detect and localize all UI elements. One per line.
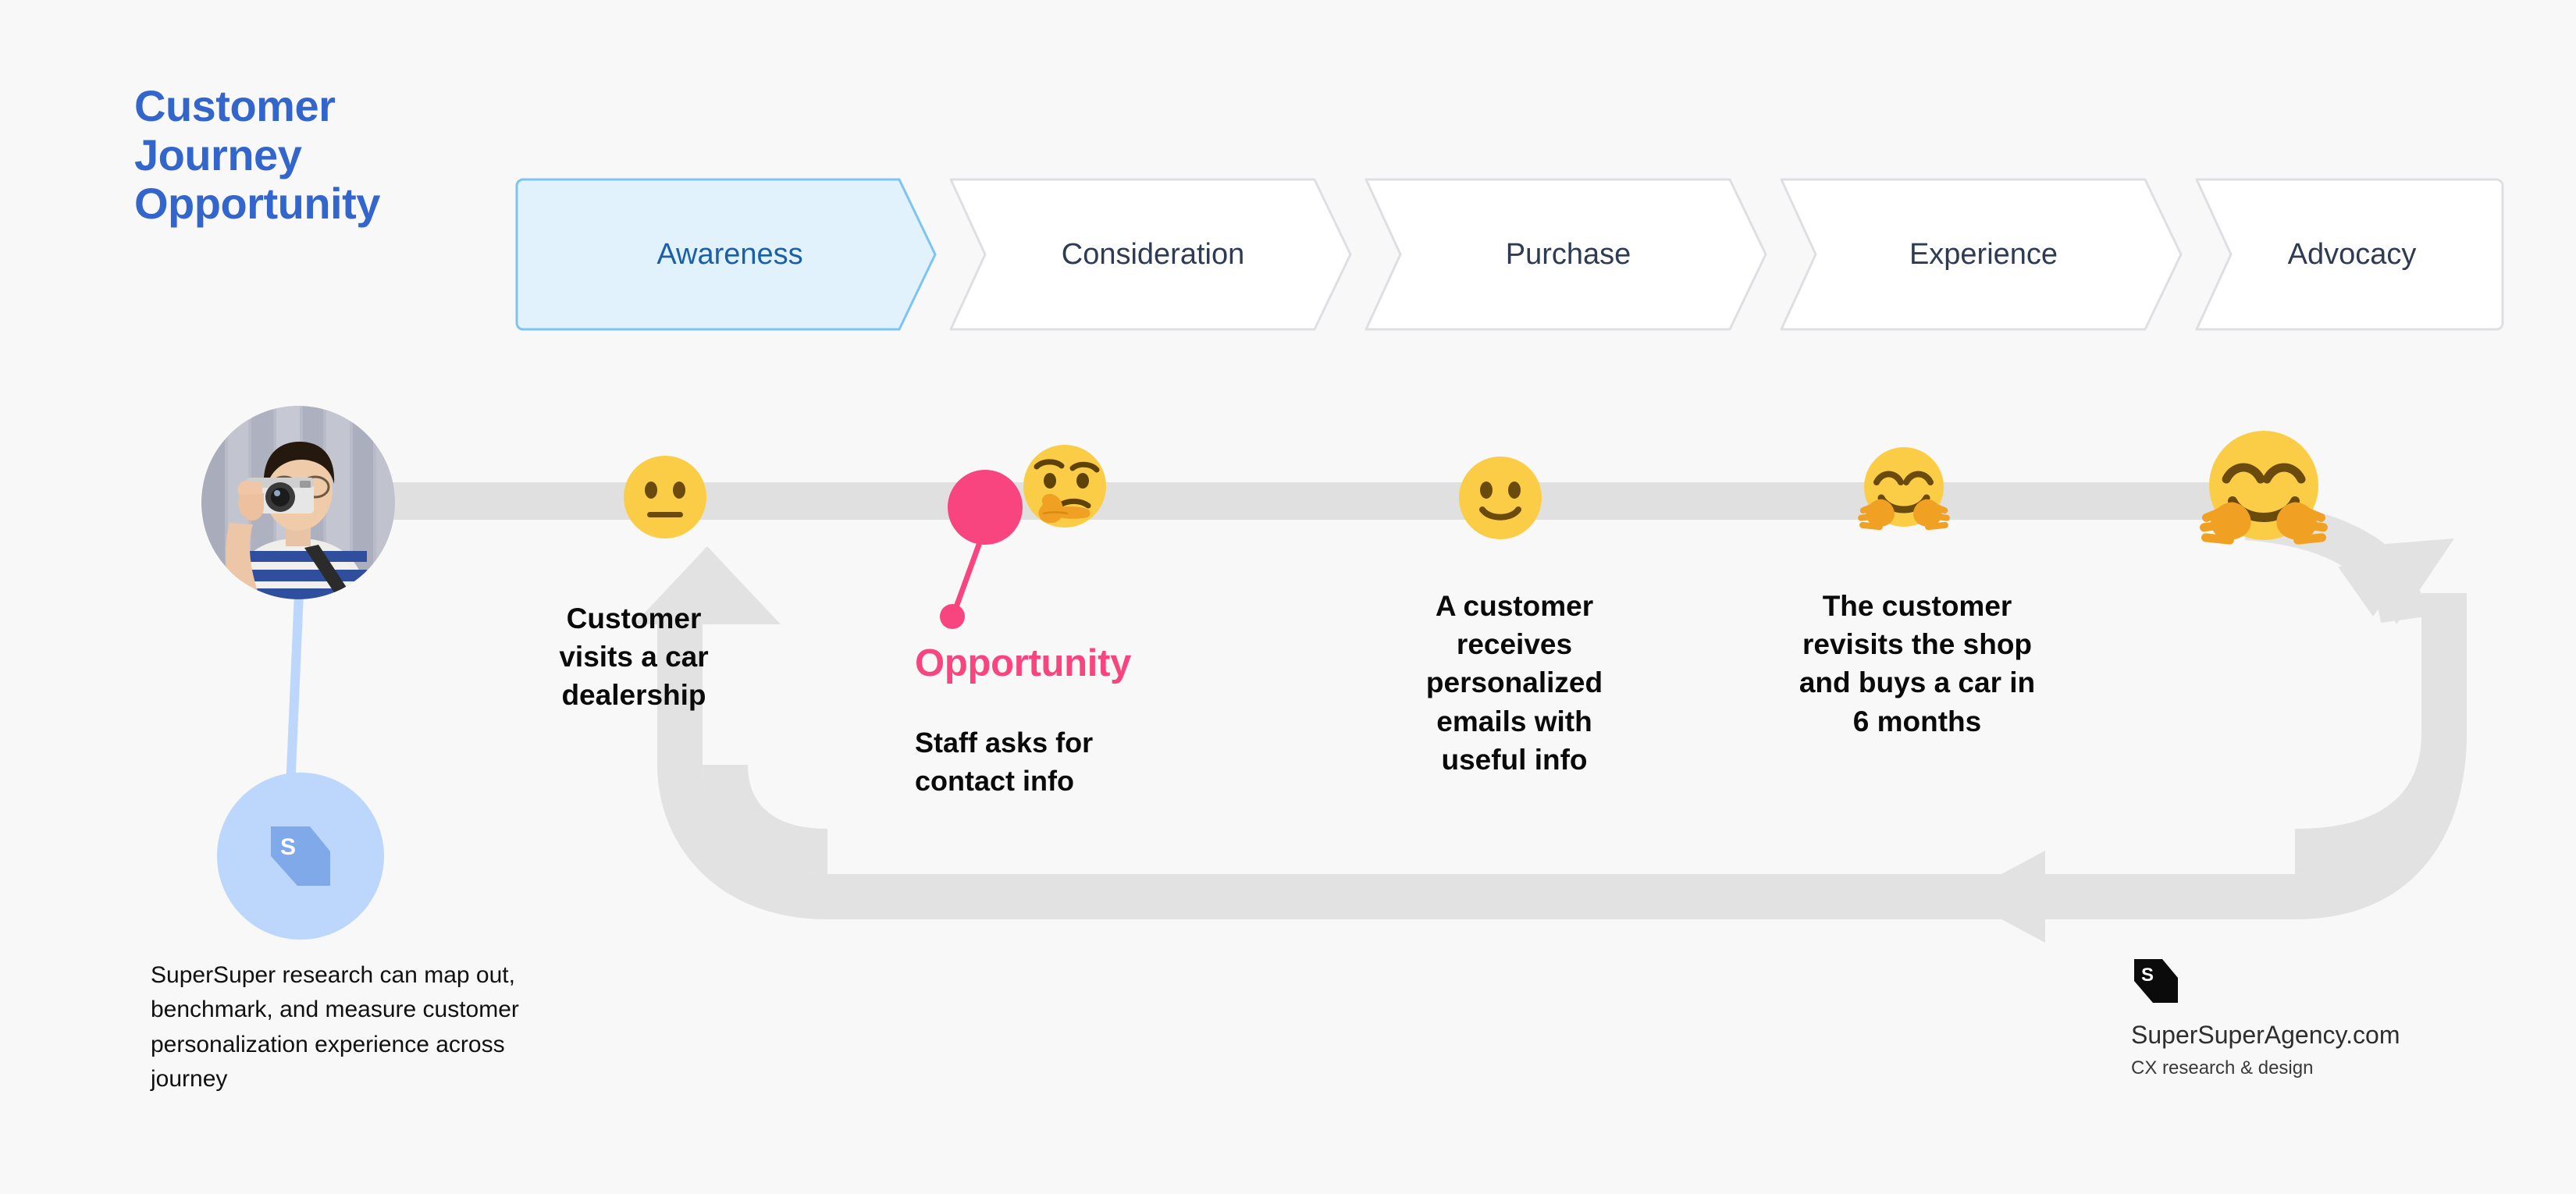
caption-line: The customer revisits the shop and buys …	[1761, 587, 2073, 741]
slightly-smiling-face-emoji	[1457, 454, 1544, 542]
svg-text:S: S	[280, 834, 296, 860]
opportunity-marker-dot	[940, 604, 965, 629]
brand-name[interactable]: SuperSuperAgency.com	[2131, 1021, 2400, 1050]
persona-tag-circle: S	[217, 773, 384, 940]
avatar-photo	[201, 406, 395, 599]
brand-block: S SuperSuperAgency.com CX research & des…	[2131, 956, 2400, 1079]
persona-blurb: SuperSuper research can map out, benchma…	[151, 958, 564, 1097]
thinking-face-emoji	[1019, 443, 1110, 534]
opportunity-title: Opportunity	[915, 641, 1131, 685]
persona-avatar	[201, 406, 395, 599]
brand-logo-icon: S	[2131, 956, 2400, 1010]
hugging-face-emoji-large	[2198, 428, 2329, 559]
caption-line: Customer visits a car dealership	[532, 599, 735, 715]
brand-tagline: CX research & design	[2131, 1057, 2400, 1079]
step-caption-purchase: A customer receives personalized emails …	[1397, 587, 1631, 779]
caption-line: A customer receives personalized emails …	[1397, 587, 1631, 779]
step-caption-experience: The customer revisits the shop and buys …	[1761, 587, 2073, 741]
opportunity-marker-bubble	[948, 470, 1023, 545]
neutral-face-emoji	[622, 454, 708, 540]
svg-text:S: S	[2141, 965, 2154, 986]
journey-infographic: Customer Journey Opportunity Awareness C…	[0, 0, 2576, 1194]
opportunity-subtitle: Staff asks for contact info	[915, 724, 1243, 800]
persona-connector-line	[290, 593, 299, 788]
tag-icon: S	[265, 820, 336, 892]
hugging-face-emoji	[1856, 445, 1952, 540]
step-caption-awareness: Customer visits a car dealership	[532, 599, 735, 715]
opportunity-marker	[937, 460, 1030, 648]
